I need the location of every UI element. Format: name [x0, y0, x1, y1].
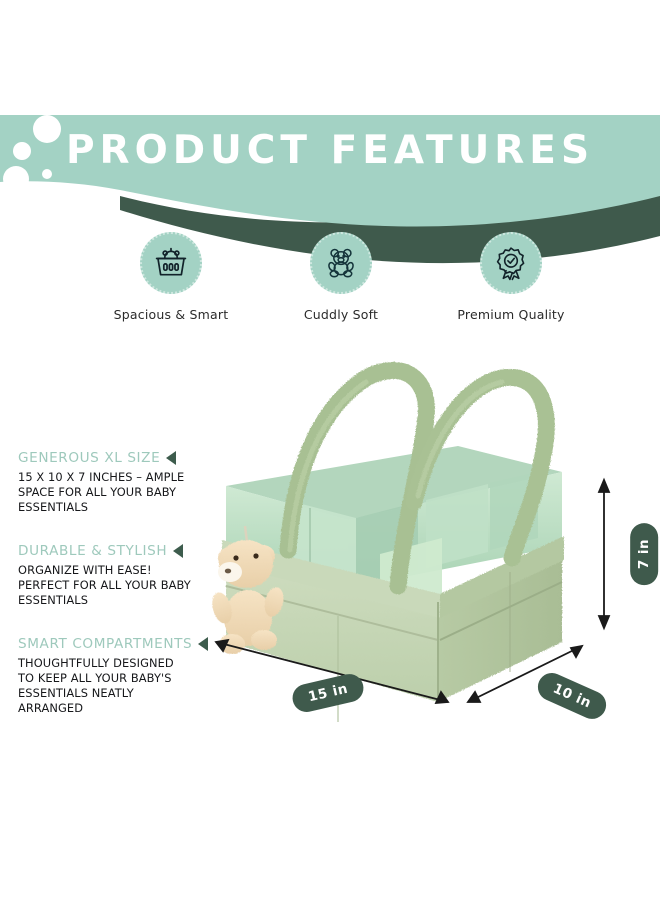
- dimension-label-height: 7 in: [630, 523, 658, 585]
- feature-block-durable-stylish: DURABLE & STYLISH ORGANIZE WITH EASE! PE…: [18, 543, 218, 608]
- quality-badge-icon: [480, 232, 542, 294]
- feature-heading: SMART COMPARTMENTS: [18, 636, 192, 652]
- feature-heading: GENEROUS XL SIZE: [18, 450, 160, 466]
- height-arrow: [599, 480, 609, 628]
- left-arrow-icon: [166, 451, 176, 465]
- feature-block-generous-xl-size: GENEROUS XL SIZE 15 X 10 X 7 INCHES – AM…: [18, 450, 218, 515]
- basket-icon: [140, 232, 202, 294]
- feature-icon-premium-quality: Premium Quality: [436, 232, 586, 322]
- feature-icon-label: Premium Quality: [457, 307, 564, 322]
- feature-icon-label: Cuddly Soft: [304, 307, 378, 322]
- feature-heading-row: DURABLE & STYLISH: [18, 543, 218, 559]
- feature-icons-row: Spacious & Smart Cuddly Soft: [96, 232, 586, 322]
- product-features-infographic: { "banner": { "title": "PRODUCT FEATURES…: [0, 0, 660, 900]
- teddy-bear-icon: [310, 232, 372, 294]
- feature-heading-row: SMART COMPARTMENTS: [18, 636, 218, 652]
- feature-heading: DURABLE & STYLISH: [18, 543, 167, 559]
- feature-block-smart-compartments: SMART COMPARTMENTS THOUGHTFULLY DESIGNED…: [18, 636, 218, 716]
- feature-text-list: GENEROUS XL SIZE 15 X 10 X 7 INCHES – AM…: [18, 450, 218, 744]
- feature-body: 15 X 10 X 7 INCHES – AMPLE SPACE FOR ALL…: [18, 470, 193, 515]
- left-arrow-icon: [173, 544, 183, 558]
- feature-icon-label: Spacious & Smart: [114, 307, 229, 322]
- feature-icon-spacious-smart: Spacious & Smart: [96, 232, 246, 322]
- feature-body: ORGANIZE WITH EASE! PERFECT FOR ALL YOUR…: [18, 563, 193, 608]
- feature-body: THOUGHTFULLY DESIGNED TO KEEP ALL YOUR B…: [18, 656, 193, 716]
- page-title: PRODUCT FEATURES: [0, 128, 660, 173]
- feature-icon-cuddly-soft: Cuddly Soft: [266, 232, 416, 322]
- feature-heading-row: GENEROUS XL SIZE: [18, 450, 218, 466]
